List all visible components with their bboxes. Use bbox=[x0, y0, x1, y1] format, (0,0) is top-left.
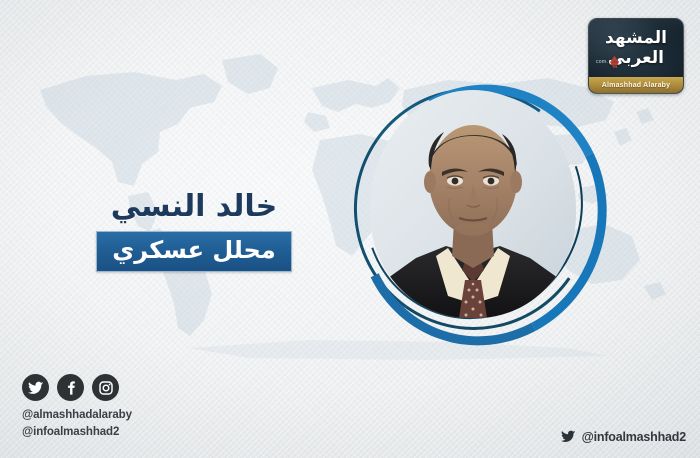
logo-latin-name: Almashhad Alaraby bbox=[602, 82, 671, 89]
guest-portrait bbox=[354, 82, 592, 330]
twitter-icon[interactable] bbox=[561, 429, 576, 444]
logo-arabic-line-1: المشهد bbox=[589, 28, 683, 48]
broadcast-lower-third-card: خالد النسي محلل عسكري المشهد العربي com.… bbox=[0, 0, 700, 458]
guest-identity-block: خالد النسي محلل عسكري bbox=[96, 190, 292, 272]
logo-domain-label: com. bbox=[596, 59, 608, 65]
social-handle[interactable]: @infoalmashhad2 bbox=[582, 430, 686, 444]
logo-latin-band: Almashhad Alaraby bbox=[589, 77, 683, 93]
channel-logo: المشهد العربي com. Almashhad Alaraby bbox=[588, 18, 684, 94]
social-icon-row bbox=[22, 374, 132, 401]
guest-name: خالد النسي bbox=[96, 190, 292, 225]
guest-title: محلل عسكري bbox=[107, 238, 281, 263]
social-block-right: @infoalmashhad2 bbox=[561, 429, 686, 444]
social-handle-list: @almashhadalaraby @infoalmashhad2 bbox=[22, 407, 132, 440]
social-block-left: @almashhadalaraby @infoalmashhad2 bbox=[22, 374, 132, 440]
facebook-icon[interactable] bbox=[57, 374, 84, 401]
guest-title-badge: محلل عسكري bbox=[96, 231, 292, 272]
portrait-photo bbox=[370, 90, 576, 318]
social-handle[interactable]: @infoalmashhad2 bbox=[22, 424, 132, 441]
twitter-icon[interactable] bbox=[22, 374, 49, 401]
social-handle[interactable]: @almashhadalaraby bbox=[22, 407, 132, 424]
instagram-icon[interactable] bbox=[92, 374, 119, 401]
